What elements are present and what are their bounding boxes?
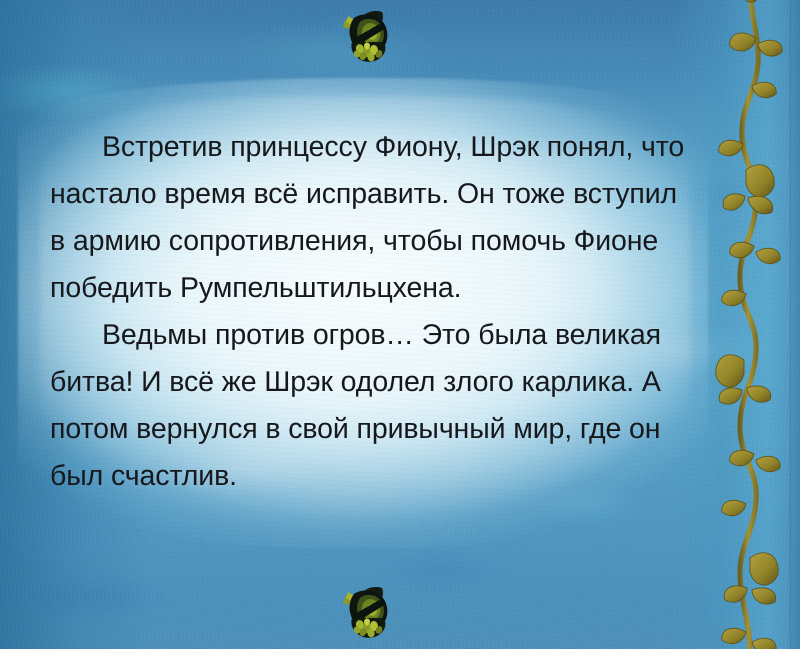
acorn-ornament-icon: [336, 4, 398, 66]
story-paragraph-2: Ведьмы против огров… Это была великая би…: [50, 312, 690, 500]
story-paragraph-1: Встретив принцессу Фиону, Шрэк понял, чт…: [50, 124, 690, 312]
right-edge-shade: [792, 0, 800, 649]
story-text-block: Встретив принцессу Фиону, Шрэк понял, чт…: [50, 124, 690, 500]
storybook-page: Встретив принцессу Фиону, Шрэк понял, чт…: [0, 0, 800, 649]
acorn-ornament-icon-bottom: [336, 580, 398, 642]
leafy-vine-border-icon: [702, 0, 794, 649]
